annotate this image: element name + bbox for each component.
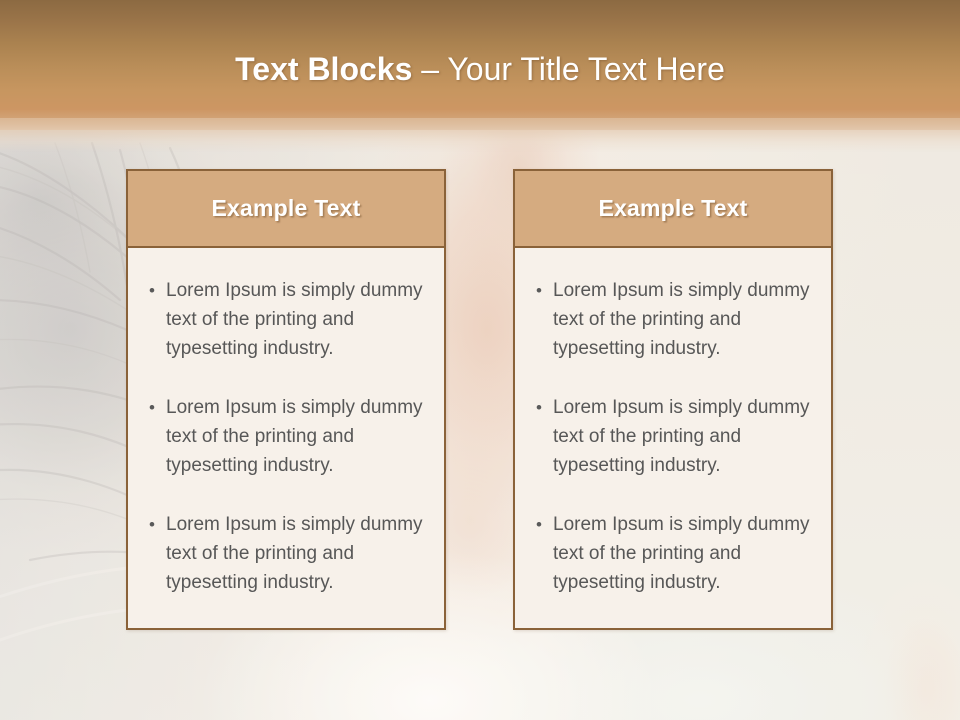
list-item-text: Lorem Ipsum is simply dummy text of the … [553, 510, 817, 597]
bullet-icon: • [525, 510, 553, 539]
list-item-text: Lorem Ipsum is simply dummy text of the … [166, 393, 430, 480]
card-title-left: Example Text [212, 195, 361, 222]
page-title-strong: Text Blocks [235, 51, 421, 87]
list-item-text: Lorem Ipsum is simply dummy text of the … [553, 276, 817, 363]
list-item: • Lorem Ipsum is simply dummy text of th… [525, 276, 817, 363]
page-title-separator: – [421, 51, 447, 87]
card-body-right: • Lorem Ipsum is simply dummy text of th… [515, 248, 831, 597]
page-title-light: Your Title Text Here [447, 51, 724, 87]
card-title-right: Example Text [599, 195, 748, 222]
bullet-icon: • [525, 393, 553, 422]
card-header-left: Example Text [128, 171, 444, 248]
bullet-icon: • [138, 393, 166, 422]
page-title: Text Blocks – Your Title Text Here [0, 49, 960, 89]
list-item: • Lorem Ipsum is simply dummy text of th… [525, 393, 817, 480]
bullet-icon: • [138, 276, 166, 305]
list-item: • Lorem Ipsum is simply dummy text of th… [525, 510, 817, 597]
list-item-text: Lorem Ipsum is simply dummy text of the … [166, 510, 430, 597]
card-body-left: • Lorem Ipsum is simply dummy text of th… [128, 248, 444, 597]
bullet-icon: • [138, 510, 166, 539]
text-block-card-left[interactable]: Example Text • Lorem Ipsum is simply dum… [126, 169, 446, 630]
list-item: • Lorem Ipsum is simply dummy text of th… [138, 276, 430, 363]
list-item-text: Lorem Ipsum is simply dummy text of the … [553, 393, 817, 480]
presentation-slide: Text Blocks – Your Title Text Here Examp… [0, 0, 960, 720]
list-item: • Lorem Ipsum is simply dummy text of th… [138, 393, 430, 480]
text-block-card-right[interactable]: Example Text • Lorem Ipsum is simply dum… [513, 169, 833, 630]
card-header-right: Example Text [515, 171, 831, 248]
list-item: • Lorem Ipsum is simply dummy text of th… [138, 510, 430, 597]
bullet-icon: • [525, 276, 553, 305]
list-item-text: Lorem Ipsum is simply dummy text of the … [166, 276, 430, 363]
